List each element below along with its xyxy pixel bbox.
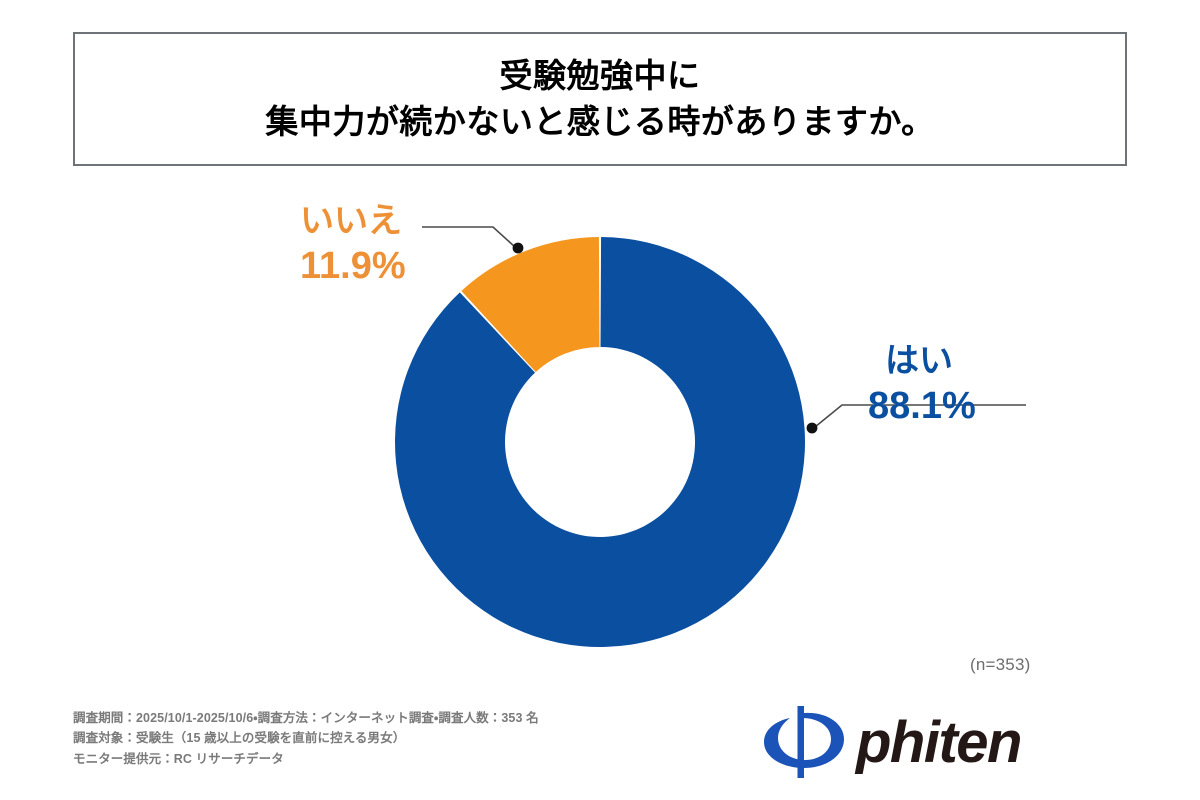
leader-dot-no xyxy=(513,243,524,254)
page-title-line-2: 集中力が続かないと感じる時がありますか。 xyxy=(265,99,934,145)
page-title-box: 受験勉強中に 集中力が続かないと感じる時がありますか。 xyxy=(73,32,1127,166)
survey-footnotes: 調査期間：2025/10/1-2025/10/6・調査方法：インターネット調査・… xyxy=(73,708,539,769)
callout-no-label: いいえ xyxy=(300,202,406,241)
chart-page: 受験勉強中に 集中力が続かないと感じる時がありますか。 いいえ 11.9% xyxy=(0,0,1200,800)
callout-label-yes: はい 88.1% xyxy=(868,342,976,429)
footnote-survey-target: 調査対象：受験生（15 歳以上の受験を直前に控える男女） xyxy=(73,728,539,748)
sample-size-annotation: (n=353) xyxy=(970,655,1030,675)
callout-yes-value: 88.1% xyxy=(868,384,976,428)
footnote-monitor-provider: モニター提供元：RC リサーチデータ xyxy=(73,749,539,769)
callout-label-no: いいえ 11.9% xyxy=(300,202,406,289)
phiten-phi-mark-icon xyxy=(764,706,844,778)
leader-line-no xyxy=(422,227,523,253)
donut-chart-area: いいえ 11.9% はい 88.1% xyxy=(0,180,1200,680)
callout-yes-label: はい xyxy=(885,342,976,381)
phiten-wordmark: phiten xyxy=(854,710,1021,775)
footnote-survey-period: 調査期間：2025/10/1-2025/10/6・調査方法：インターネット調査・… xyxy=(73,708,539,728)
phiten-phi-stroke xyxy=(798,706,805,778)
phiten-logo: phiten xyxy=(752,706,1132,778)
donut-chart-svg xyxy=(0,180,1200,680)
donut-slice-yes[interactable] xyxy=(395,237,805,647)
callout-no-value: 11.9% xyxy=(300,244,406,288)
leader-dot-yes xyxy=(807,423,818,434)
page-title-line-1: 受験勉強中に xyxy=(500,53,701,99)
